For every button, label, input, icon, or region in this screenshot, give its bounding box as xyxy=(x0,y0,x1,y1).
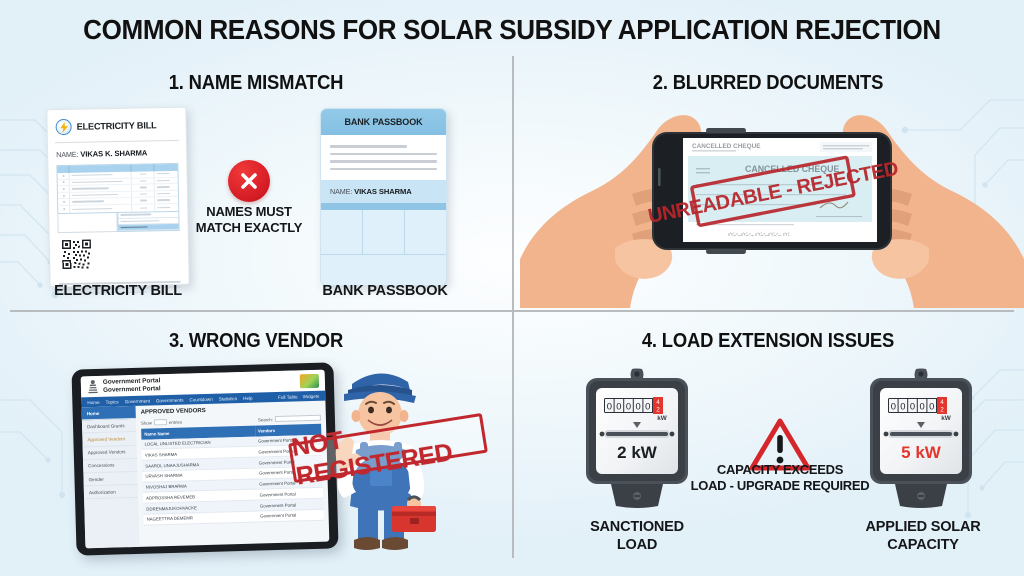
sidebar-item-authorization[interactable]: Authorization xyxy=(84,485,138,500)
mismatch-note-line1: NAMES MUST xyxy=(178,204,320,220)
search-group: Search: xyxy=(258,415,321,423)
svg-text:0: 0 xyxy=(929,400,934,411)
bill-doc-title: ELECTRICITY BILL xyxy=(77,120,157,132)
government-emblem-icon xyxy=(87,379,99,394)
svg-text:0: 0 xyxy=(891,400,896,411)
sanctioned-load-caption: SANCTIONED LOAD xyxy=(540,519,734,554)
warn-note-line1: CAPACITY EXCEEDS xyxy=(684,462,876,478)
caption-line1: SANCTIONED xyxy=(540,519,734,537)
cheque-title-small: CANCELLED CHEQUE xyxy=(692,143,761,150)
mismatch-note-line2: MATCH EXACTLY xyxy=(178,220,320,236)
cell-name: NAGEETTRA DEMEMR xyxy=(144,511,258,525)
horizontal-divider xyxy=(10,310,1014,312)
quadrant-3-heading: 3. WRONG VENDOR xyxy=(20,330,491,353)
svg-text:0: 0 xyxy=(900,400,905,411)
show-label: Show xyxy=(141,420,152,425)
red-x-circle-icon xyxy=(228,160,270,202)
caption-line2: LOAD xyxy=(540,537,734,555)
svg-text:0: 0 xyxy=(645,400,650,411)
nav-item[interactable]: Full Table xyxy=(278,394,298,400)
caption-line2: CAPACITY xyxy=(826,537,1020,555)
bank-passbook-document: BANK PASSBOOK NAME: VIKAS SHARMA xyxy=(320,108,447,286)
meter-unit-label: kW xyxy=(941,415,952,422)
passbook-grid xyxy=(321,210,446,255)
bill-name-label: NAME: xyxy=(56,150,78,159)
cell-vendor: Government Portal xyxy=(257,509,324,522)
capacity-warning-note: CAPACITY EXCEEDS LOAD - UPGRADE REQUIRED xyxy=(684,462,876,495)
caption-line1: APPLIED SOLAR xyxy=(826,519,1020,537)
passbook-accent-bar xyxy=(321,203,446,210)
nav-item[interactable]: Topics xyxy=(106,399,119,404)
sanctioned-load-meter: 0 0 0 0 0 4 2 kW 2 kW xyxy=(578,368,696,518)
lightning-bolt-icon xyxy=(55,119,71,135)
entries-label: entries xyxy=(169,419,182,424)
passbook-detail-lines xyxy=(321,135,446,180)
nav-item[interactable]: Help xyxy=(243,395,253,400)
electricity-bill-caption: ELECTRICITY BILL xyxy=(18,283,218,299)
quadrant-2-heading: 2. BLURRED DOCUMENTS xyxy=(532,72,1003,95)
portal-name-line2: Government Portal xyxy=(103,385,161,394)
bill-name-row: NAME: VIKAS K. SHARMA xyxy=(48,141,186,166)
nav-item[interactable]: Statistics xyxy=(219,396,238,402)
svg-text:0: 0 xyxy=(910,400,915,411)
entries-select[interactable] xyxy=(154,419,167,425)
portal-page-title: APPROVED VENDORS xyxy=(141,405,321,416)
sanctioned-load-value: 2 kW xyxy=(617,443,658,462)
svg-text:0: 0 xyxy=(919,400,924,411)
bill-name-value: VIKAS K. SHARMA xyxy=(80,148,147,158)
summary-total-row xyxy=(119,224,179,232)
passbook-name-value: VIKAS SHARMA xyxy=(354,187,411,196)
svg-text:0: 0 xyxy=(626,400,631,411)
nav-item[interactable]: Government xyxy=(125,398,150,404)
svg-text:0: 0 xyxy=(607,400,612,411)
electricity-bill-document: ELECTRICITY BILL NAME: VIKAS K. SHARMA xyxy=(46,107,189,288)
warn-note-line2: LOAD - UPGRADE REQUIRED xyxy=(684,478,876,494)
applied-capacity-value: 5 kW xyxy=(901,443,942,462)
page-title: COMMON REASONS FOR SOLAR SUBSIDY APPLICA… xyxy=(36,14,988,46)
bill-line-items-table xyxy=(56,163,179,214)
bank-passbook-caption: BANK PASSBOOK xyxy=(310,283,460,299)
nav-item[interactable]: Countdown xyxy=(189,396,212,402)
nav-item[interactable]: Home xyxy=(87,399,99,404)
svg-text:⑈⑆⑇⑉⑈⑆⑇⑉ ⑈⑆⑇⑉⑈⑆⑇⑉ ⑈⑆: ⑈⑆⑇⑉⑈⑆⑇⑉ ⑈⑆⑇⑉⑈⑆⑇⑉ ⑈⑆ xyxy=(728,232,790,238)
applied-solar-capacity-meter: 0 0 0 0 0 4 2 kW 5 kW xyxy=(862,368,980,518)
passbook-name-row: NAME: VIKAS SHARMA xyxy=(321,180,446,203)
applied-capacity-caption: APPLIED SOLAR CAPACITY xyxy=(826,519,1020,554)
name-mismatch-note: NAMES MUST MATCH EXACTLY xyxy=(178,204,320,236)
portal-sidebar: Home Dashboard Grants Approved Vendors A… xyxy=(82,406,140,548)
infographic-canvas: COMMON REASONS FOR SOLAR SUBSIDY APPLICA… xyxy=(0,0,1024,576)
svg-text:0: 0 xyxy=(616,400,621,411)
meter-unit-label: kW xyxy=(657,415,668,422)
vertical-divider xyxy=(512,56,514,558)
passbook-doc-title: BANK PASSBOOK xyxy=(321,109,446,135)
svg-text:0: 0 xyxy=(635,400,640,411)
qr-code-icon xyxy=(62,240,92,270)
hands-holding-phone-illustration: CANCELLED CHEQUE CANCELLED CHEQUE ⑈⑆⑇⑉⑈⑆… xyxy=(520,96,1024,308)
search-input[interactable] xyxy=(275,415,321,423)
passbook-name-label: NAME: xyxy=(330,187,352,196)
quadrant-1-heading: 1. NAME MISMATCH xyxy=(20,72,491,95)
nav-right-group: Full Table Widgets xyxy=(278,393,319,399)
portal-titles: Government Portal Government Portal xyxy=(103,378,161,394)
bill-summary-block xyxy=(57,211,179,233)
nav-item[interactable]: Governments xyxy=(156,397,184,403)
search-label: Search: xyxy=(258,417,273,422)
quadrant-4-heading: 4. LOAD EXTENSION ISSUES xyxy=(532,330,1003,353)
